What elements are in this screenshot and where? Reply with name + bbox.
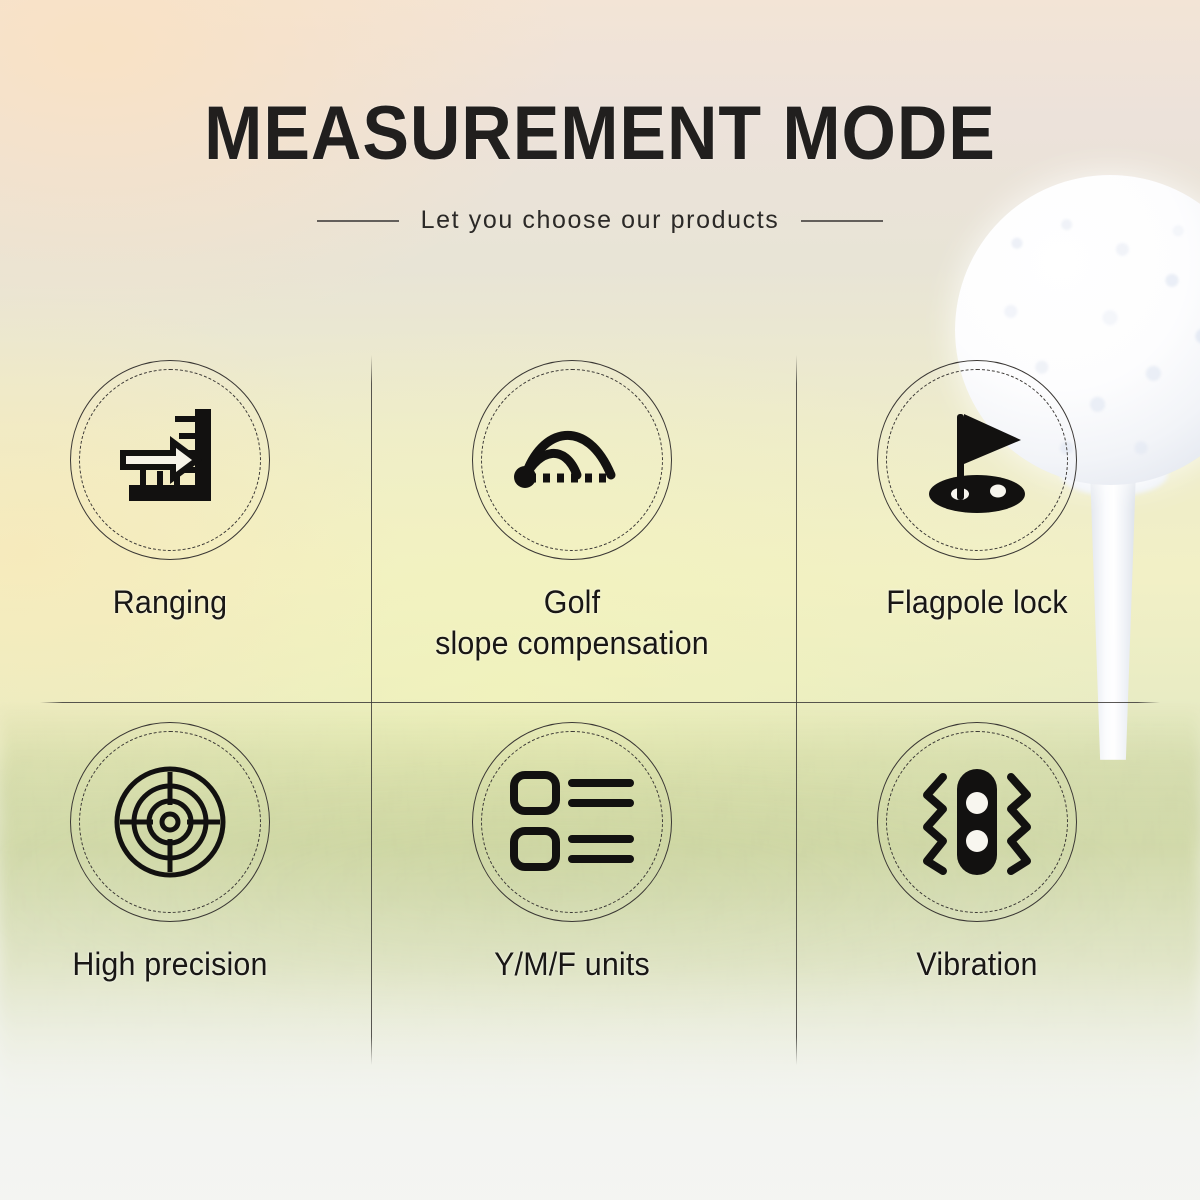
feature-badge	[472, 722, 672, 922]
grid-divider-vertical-1	[371, 355, 372, 1065]
page-title: MEASUREMENT MODE	[48, 96, 1152, 172]
subtitle-row: Let you choose our products	[0, 206, 1200, 235]
feature-grid: Ranging	[0, 340, 1200, 1060]
grid-divider-horizontal	[40, 702, 1160, 703]
subtitle-rule-left	[317, 220, 399, 222]
feature-label: Ranging	[13, 582, 327, 623]
unit-list-icon	[500, 750, 644, 894]
feature-item-golf-slope-compensation[interactable]: Golf slope compensation	[407, 360, 737, 664]
subtitle-rule-right	[801, 220, 883, 222]
feature-label: Flagpole lock	[820, 582, 1134, 623]
ruler-arrow-icon	[98, 388, 242, 532]
vibration-device-icon	[905, 750, 1049, 894]
feature-label: High precision	[13, 944, 327, 985]
promo-banner: MEASUREMENT MODE Let you choose our prod…	[0, 0, 1200, 1200]
feature-label: Y/M/F units	[415, 944, 729, 985]
feature-item-high-precision[interactable]: High precision	[5, 722, 335, 985]
trajectory-arc-icon	[500, 388, 644, 532]
feature-item-ranging[interactable]: Ranging	[5, 360, 335, 623]
feature-badge	[472, 360, 672, 560]
golf-flag-hole-icon	[905, 388, 1049, 532]
feature-label: Vibration	[820, 944, 1134, 985]
feature-badge	[70, 722, 270, 922]
feature-badge	[877, 722, 1077, 922]
crosshair-target-icon	[98, 750, 242, 894]
feature-item-flagpole-lock[interactable]: Flagpole lock	[812, 360, 1142, 623]
page-subtitle: Let you choose our products	[421, 206, 780, 235]
grid-divider-vertical-2	[796, 355, 797, 1065]
feature-item-vibration[interactable]: Vibration	[812, 722, 1142, 985]
feature-badge	[877, 360, 1077, 560]
feature-badge	[70, 360, 270, 560]
feature-item-ymf-units[interactable]: Y/M/F units	[407, 722, 737, 985]
feature-label: Golf slope compensation	[415, 582, 729, 664]
header: MEASUREMENT MODE Let you choose our prod…	[0, 96, 1200, 235]
